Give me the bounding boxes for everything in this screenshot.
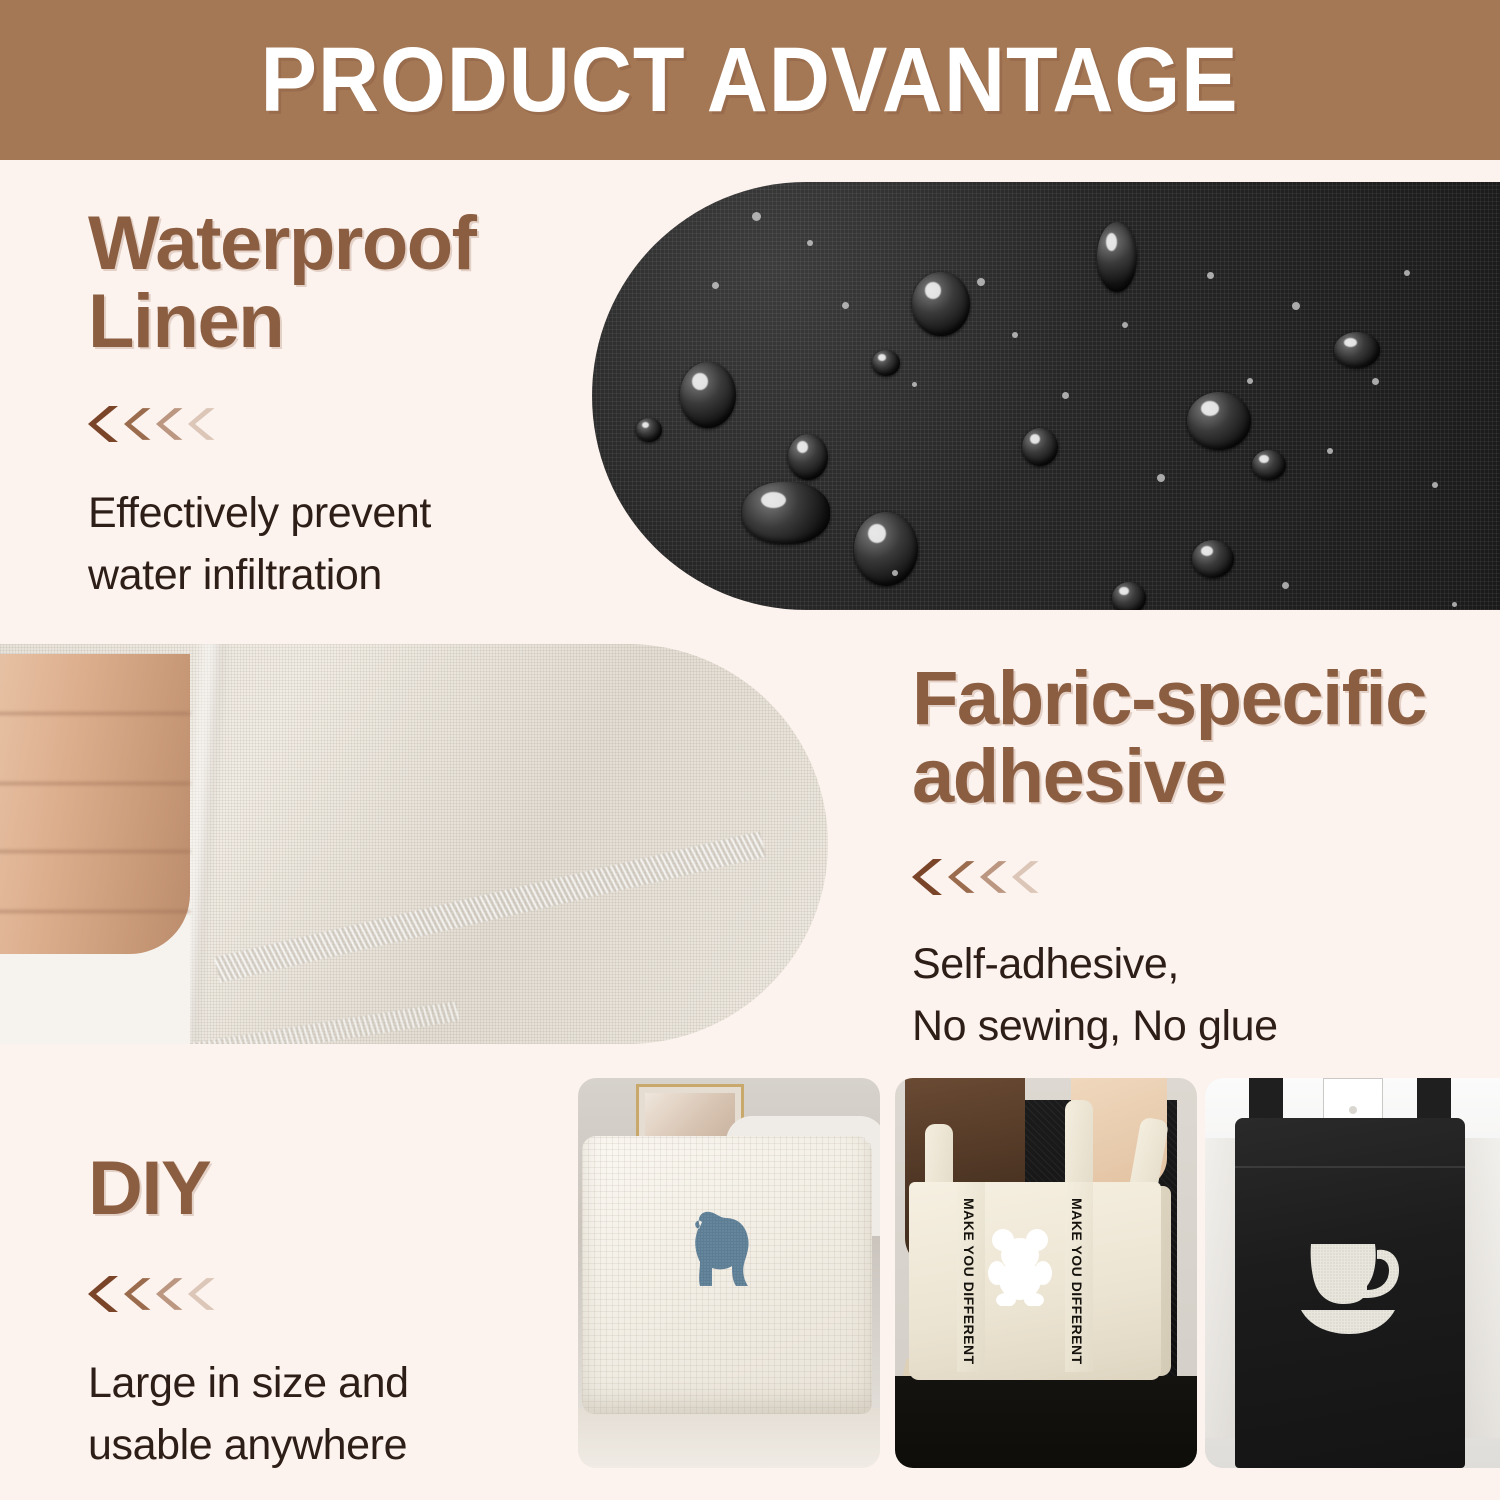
adhesive-body-line-2: No sewing, No glue: [912, 995, 1472, 1057]
tote-webbing-left: MAKE YOU DIFFERENT: [957, 1182, 985, 1372]
waterproof-text-block: Waterproof Linen Effectively prevent wat…: [88, 205, 568, 607]
waterproof-fabric-photo: [592, 182, 1500, 610]
adhesive-text-block: Fabric-specific adhesive Self-adhesive, …: [912, 660, 1472, 1058]
diy-body-line-2: usable anywhere: [88, 1414, 548, 1476]
dog-silhouette-patch: [674, 1200, 778, 1304]
tote-strap-text-right: MAKE YOU DIFFERENT: [1069, 1198, 1085, 1365]
diy-heading: DIY: [88, 1150, 548, 1228]
page-title: PRODUCT ADVANTAGE: [261, 28, 1239, 133]
adhesive-body-line-1: Self-adhesive,: [912, 933, 1472, 995]
gallery-photo-pillow: [578, 1078, 880, 1468]
diy-body: Large in size and usable anywhere: [88, 1352, 548, 1477]
product-advantage-banner: PRODUCT ADVANTAGE: [0, 0, 1500, 160]
chevrons-left-icon: [912, 857, 1472, 897]
waterproof-heading: Waterproof Linen: [88, 205, 568, 360]
tote-strap-text-left: MAKE YOU DIFFERENT: [961, 1198, 977, 1365]
adhesive-body: Self-adhesive, No sewing, No glue: [912, 933, 1472, 1058]
diy-body-line-1: Large in size and: [88, 1352, 548, 1414]
gallery-photo-tote-bag: MAKE YOU DIFFERENT MAKE YOU DIFFERENT: [895, 1078, 1197, 1468]
chevrons-left-icon: [88, 404, 568, 444]
waterproof-body: Effectively prevent water infiltration: [88, 482, 568, 607]
adhesive-heading: Fabric-specific adhesive: [912, 660, 1472, 815]
teacup-patch: [1297, 1238, 1401, 1334]
hand: [0, 654, 190, 954]
apron-pocket-seam: [1235, 1166, 1465, 1168]
waterproof-body-line-2: water infiltration: [88, 544, 568, 606]
chevrons-left-icon: [88, 1274, 548, 1314]
pillow-shadow: [578, 1408, 880, 1468]
bear-silhouette-patch: [987, 1228, 1053, 1306]
tote-webbing-right: MAKE YOU DIFFERENT: [1065, 1182, 1093, 1372]
diy-text-block: DIY Large in size and usable anywhere: [88, 1150, 548, 1476]
waterproof-body-line-1: Effectively prevent: [88, 482, 568, 544]
shirt-button: [1349, 1106, 1357, 1114]
model-skirt: [895, 1376, 1197, 1468]
linen-fabric-photo: [0, 644, 828, 1044]
gallery-photo-apron: [1205, 1078, 1500, 1468]
